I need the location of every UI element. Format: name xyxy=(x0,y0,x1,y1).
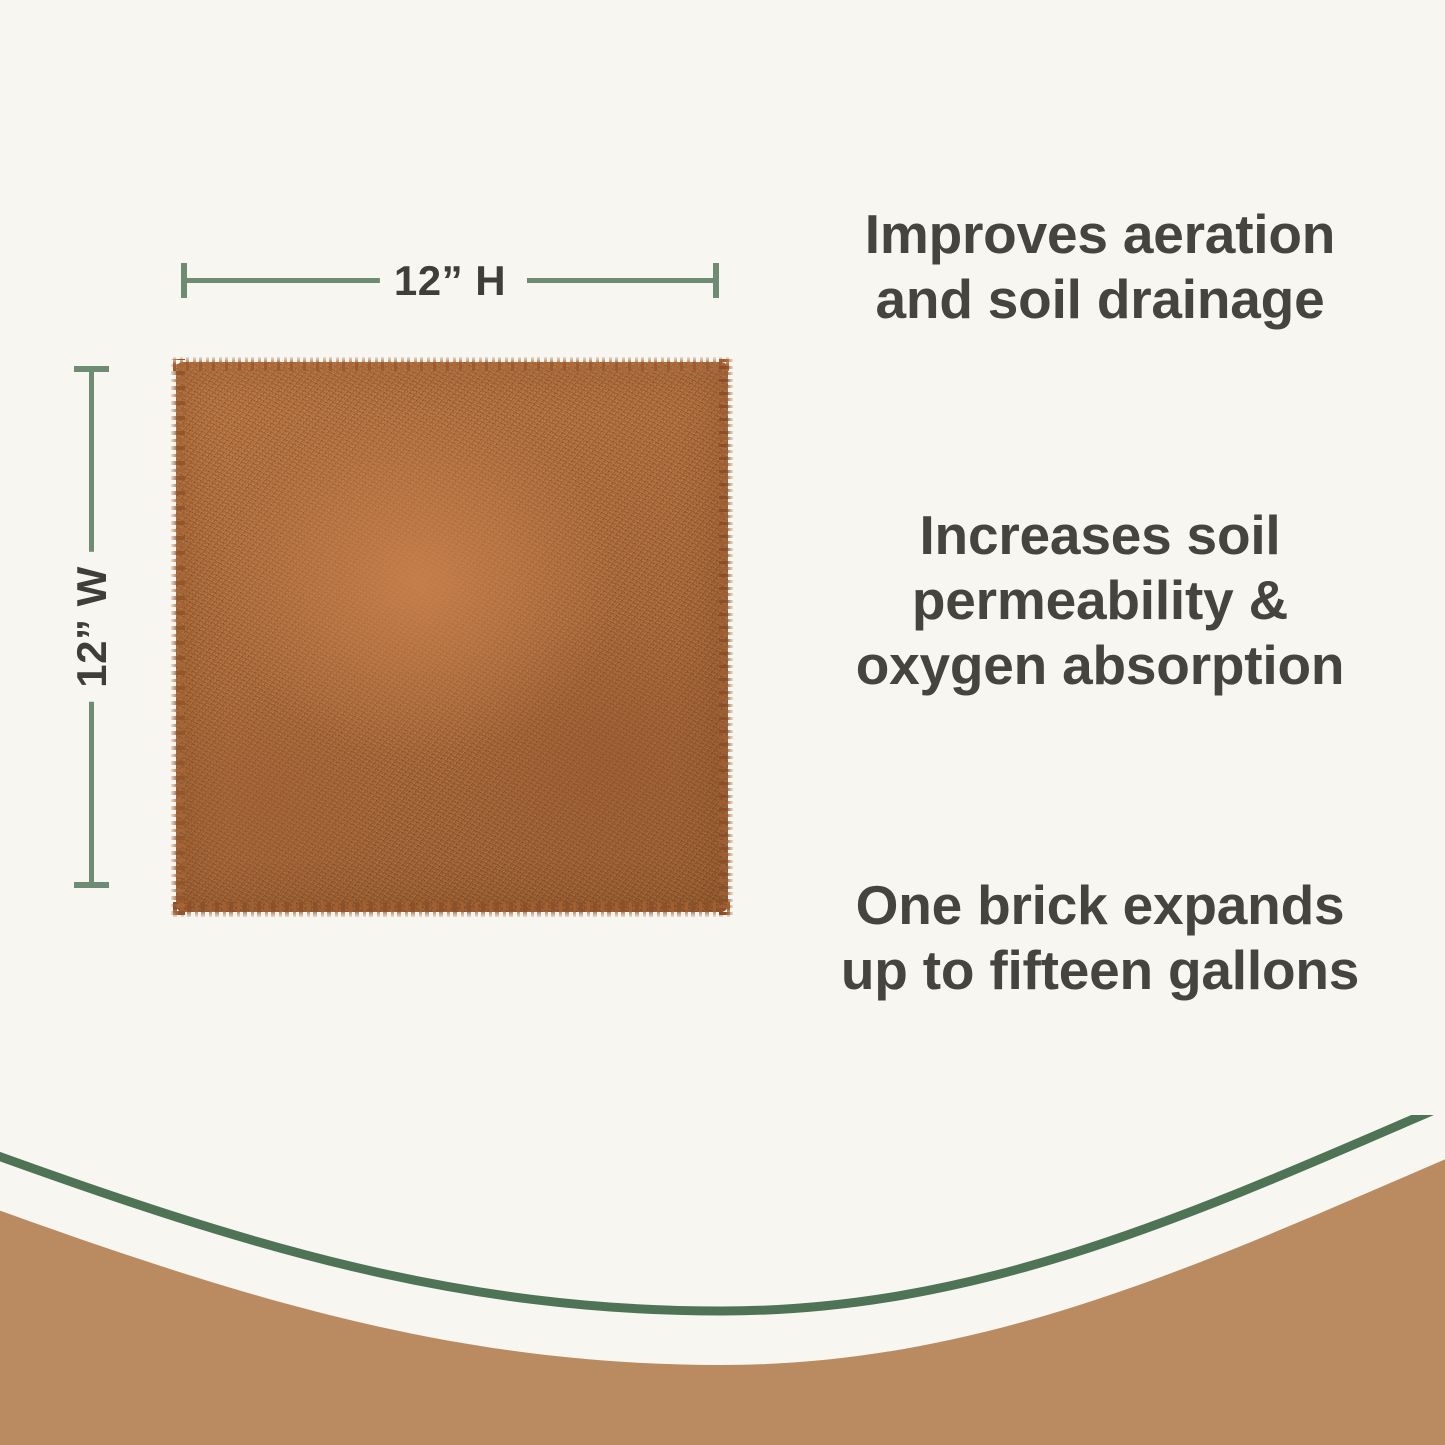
dimension-label-width: 12” W xyxy=(68,552,116,702)
dimension-label-height: 12” H xyxy=(380,257,520,305)
dimension-rule-left xyxy=(185,278,403,283)
decorative-wave xyxy=(0,1115,1445,1445)
dimension-cap-bottom xyxy=(74,882,109,888)
benefit-aeration-drainage: Improves aeration and soil drainage xyxy=(770,202,1430,332)
coco-coir-brick-image xyxy=(176,362,728,912)
benefit-line: permeability & xyxy=(770,568,1430,633)
benefit-line: up to fifteen gallons xyxy=(770,938,1430,1003)
benefit-line: oxygen absorption xyxy=(770,633,1430,698)
dimension-rule-right xyxy=(527,278,715,283)
benefit-expansion-capacity: One brick expands up to fifteen gallons xyxy=(770,873,1430,1003)
benefit-line: and soil drainage xyxy=(770,267,1430,332)
benefit-line: Improves aeration xyxy=(770,202,1430,267)
dimension-horizontal: 12” H xyxy=(181,263,719,299)
infographic-canvas: 12” H 12” W Improves aeration and soil d… xyxy=(0,0,1445,1445)
dimension-cap-right xyxy=(713,263,719,298)
benefits-list: Improves aeration and soil drainage Incr… xyxy=(770,0,1430,1100)
brick-surface-texture xyxy=(176,362,728,912)
benefit-line: Increases soil xyxy=(770,503,1430,568)
dimension-vertical: 12” W xyxy=(74,366,110,888)
product-image-area: 12” H 12” W xyxy=(0,0,780,1100)
dimension-rule-bottom xyxy=(89,684,94,884)
dimension-rule-top xyxy=(89,370,94,570)
benefit-permeability-oxygen: Increases soil permeability & oxygen abs… xyxy=(770,503,1430,698)
benefit-line: One brick expands xyxy=(770,873,1430,938)
